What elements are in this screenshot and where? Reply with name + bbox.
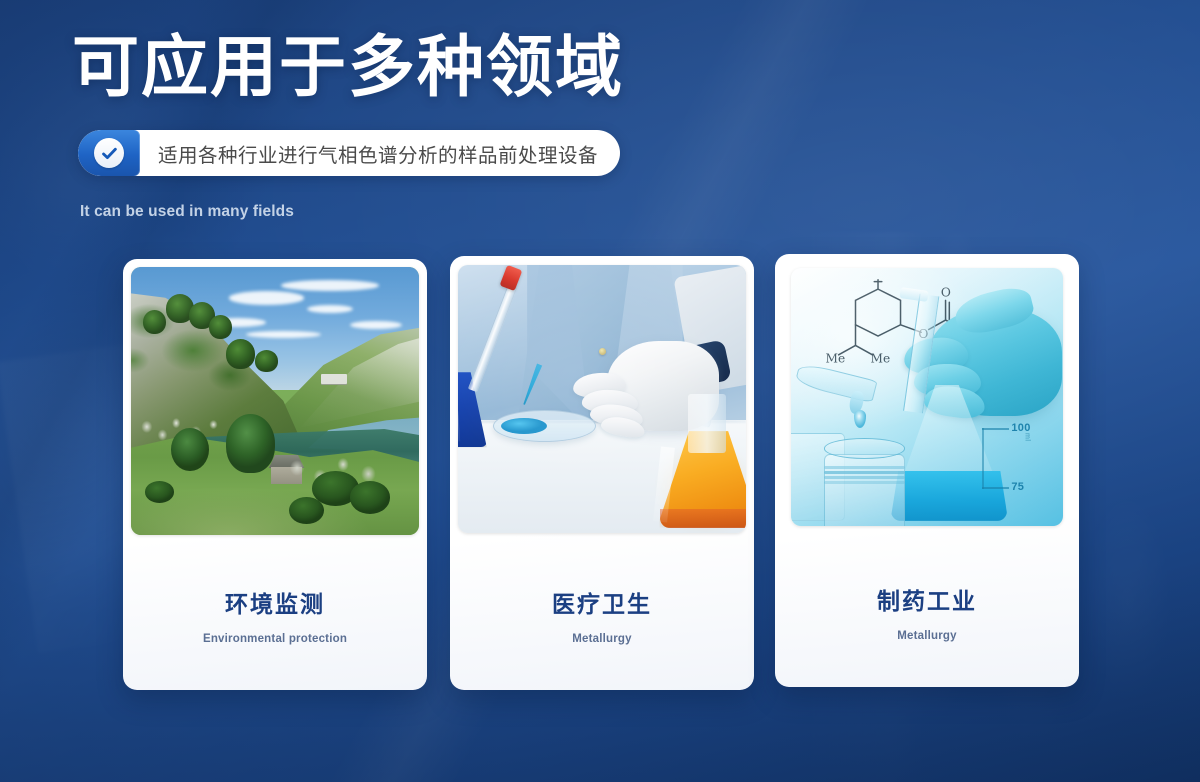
mountain-valley-lake-photo [131,267,419,535]
card-environmental-monitoring[interactable]: 环境监测 Environmental protection [123,259,427,690]
tagline-text: 适用各种行业进行气相色谱分析的样品前处理设备 [140,130,620,176]
card-title: 医疗卫生 [552,585,652,619]
pharmaceutical-chemistry-photo: O O OH Me Me [791,268,1063,526]
laboratory-pipette-photo [458,265,746,533]
card-subtitle: Metallurgy [572,633,632,645]
page-title: 可应用于多种领域 [72,33,624,100]
card-pharmaceutical-industry[interactable]: O O OH Me Me [775,254,1079,687]
check-badge [78,130,140,176]
card-caption: 环境监测 Environmental protection [123,540,427,690]
photo-shading [131,267,419,535]
tagline-pill: 适用各种行业进行气相色谱分析的样品前处理设备 [78,130,620,176]
hero-banner: 可应用于多种领域 适用各种行业进行气相色谱分析的样品前处理设备 It can b… [0,0,1200,782]
card-title: 环境监测 [225,585,325,619]
photo-soft-light [458,265,746,533]
card-subtitle: Metallurgy [897,630,957,642]
card-subtitle: Environmental protection [203,633,347,645]
cyan-tint-overlay [791,268,1063,526]
card-caption: 制药工业 Metallurgy [775,537,1079,687]
card-caption: 医疗卫生 Metallurgy [450,540,754,690]
card-medical-health[interactable]: 医疗卫生 Metallurgy [450,256,754,690]
card-title: 制药工业 [877,582,977,616]
subtitle-english: It can be used in many fields [80,203,294,221]
check-circle-icon [94,138,124,168]
banner-content: 可应用于多种领域 适用各种行业进行气相色谱分析的样品前处理设备 It can b… [0,0,1200,782]
